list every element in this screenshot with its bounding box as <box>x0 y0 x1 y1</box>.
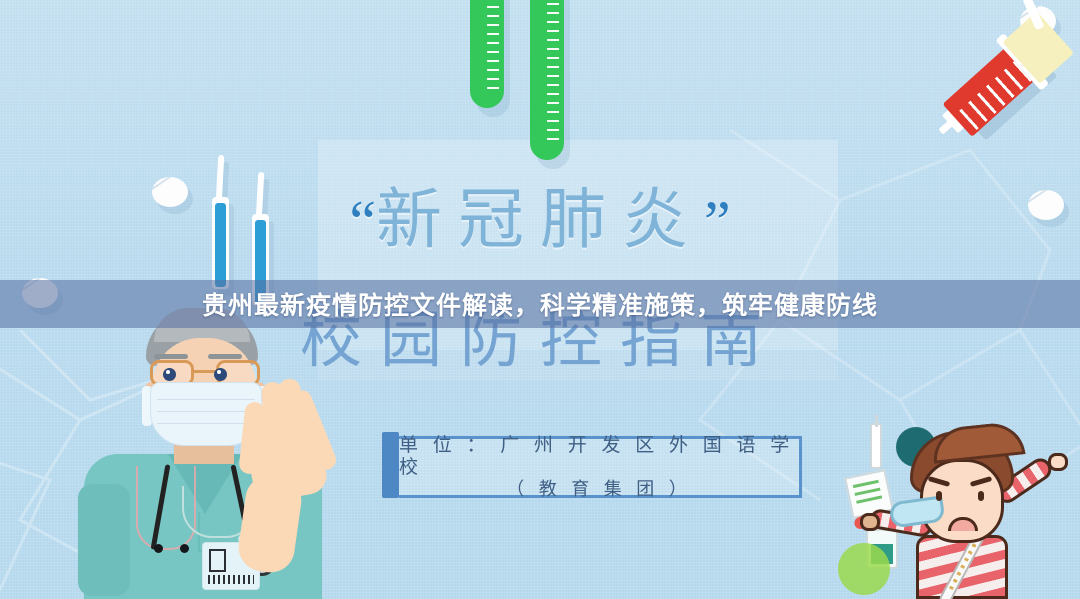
doctor-eyebrow <box>154 354 188 359</box>
badge-barcode <box>208 575 254 584</box>
quote-close: ” <box>704 189 731 255</box>
poster-headline-text: 新冠肺炎 <box>376 184 704 257</box>
badge-photo <box>209 549 226 572</box>
boy-hand <box>860 513 880 531</box>
doctor-eye <box>214 368 227 381</box>
boy-eye <box>936 491 942 501</box>
boy-eye <box>978 491 984 501</box>
unit-inner-box: 单 位 ： 广 州 开 发 区 外 国 语 学 校 （ 教 育 集 团 ） <box>399 436 802 498</box>
doctor-eye <box>163 368 176 381</box>
unit-info-box: 单 位 ： 广 州 开 发 区 外 国 语 学 校 （ 教 育 集 团 ） <box>382 432 802 498</box>
stethoscope-earpiece <box>180 544 189 553</box>
doctor-sleeve <box>78 484 130 596</box>
unit-accent-bar <box>382 432 399 498</box>
sick-boy-illustration <box>852 417 1078 599</box>
page-title: 贵州最新疫情防控文件解读，科学精准施策，筑牢健康防线 <box>202 286 878 322</box>
poster-image: “新冠肺炎” 校园防控指南 单 位 ： 广 州 开 发 区 外 国 语 学 校 … <box>0 0 1080 599</box>
unit-line-1: 单 位 ： 广 州 开 发 区 外 国 语 学 校 <box>399 435 799 479</box>
virus-icon <box>838 543 890 595</box>
poster-headline: “新冠肺炎” <box>0 188 1080 254</box>
unit-line-2: （ 教 育 集 团 ） <box>506 479 692 500</box>
test-tube-icon <box>470 0 504 108</box>
small-syringe-icon <box>870 423 882 469</box>
boy-hair-sweep <box>930 420 1025 463</box>
doctor-eyebrow <box>208 354 242 359</box>
title-overlay-band: 贵州最新疫情防控文件解读，科学精准施策，筑牢健康防线 <box>0 280 1080 328</box>
boy-hand-raised <box>1048 453 1068 471</box>
quote-open: “ <box>349 189 376 255</box>
test-tube-icon <box>530 0 564 160</box>
stethoscope-earpiece <box>154 544 163 553</box>
presenting-hand <box>234 372 330 502</box>
